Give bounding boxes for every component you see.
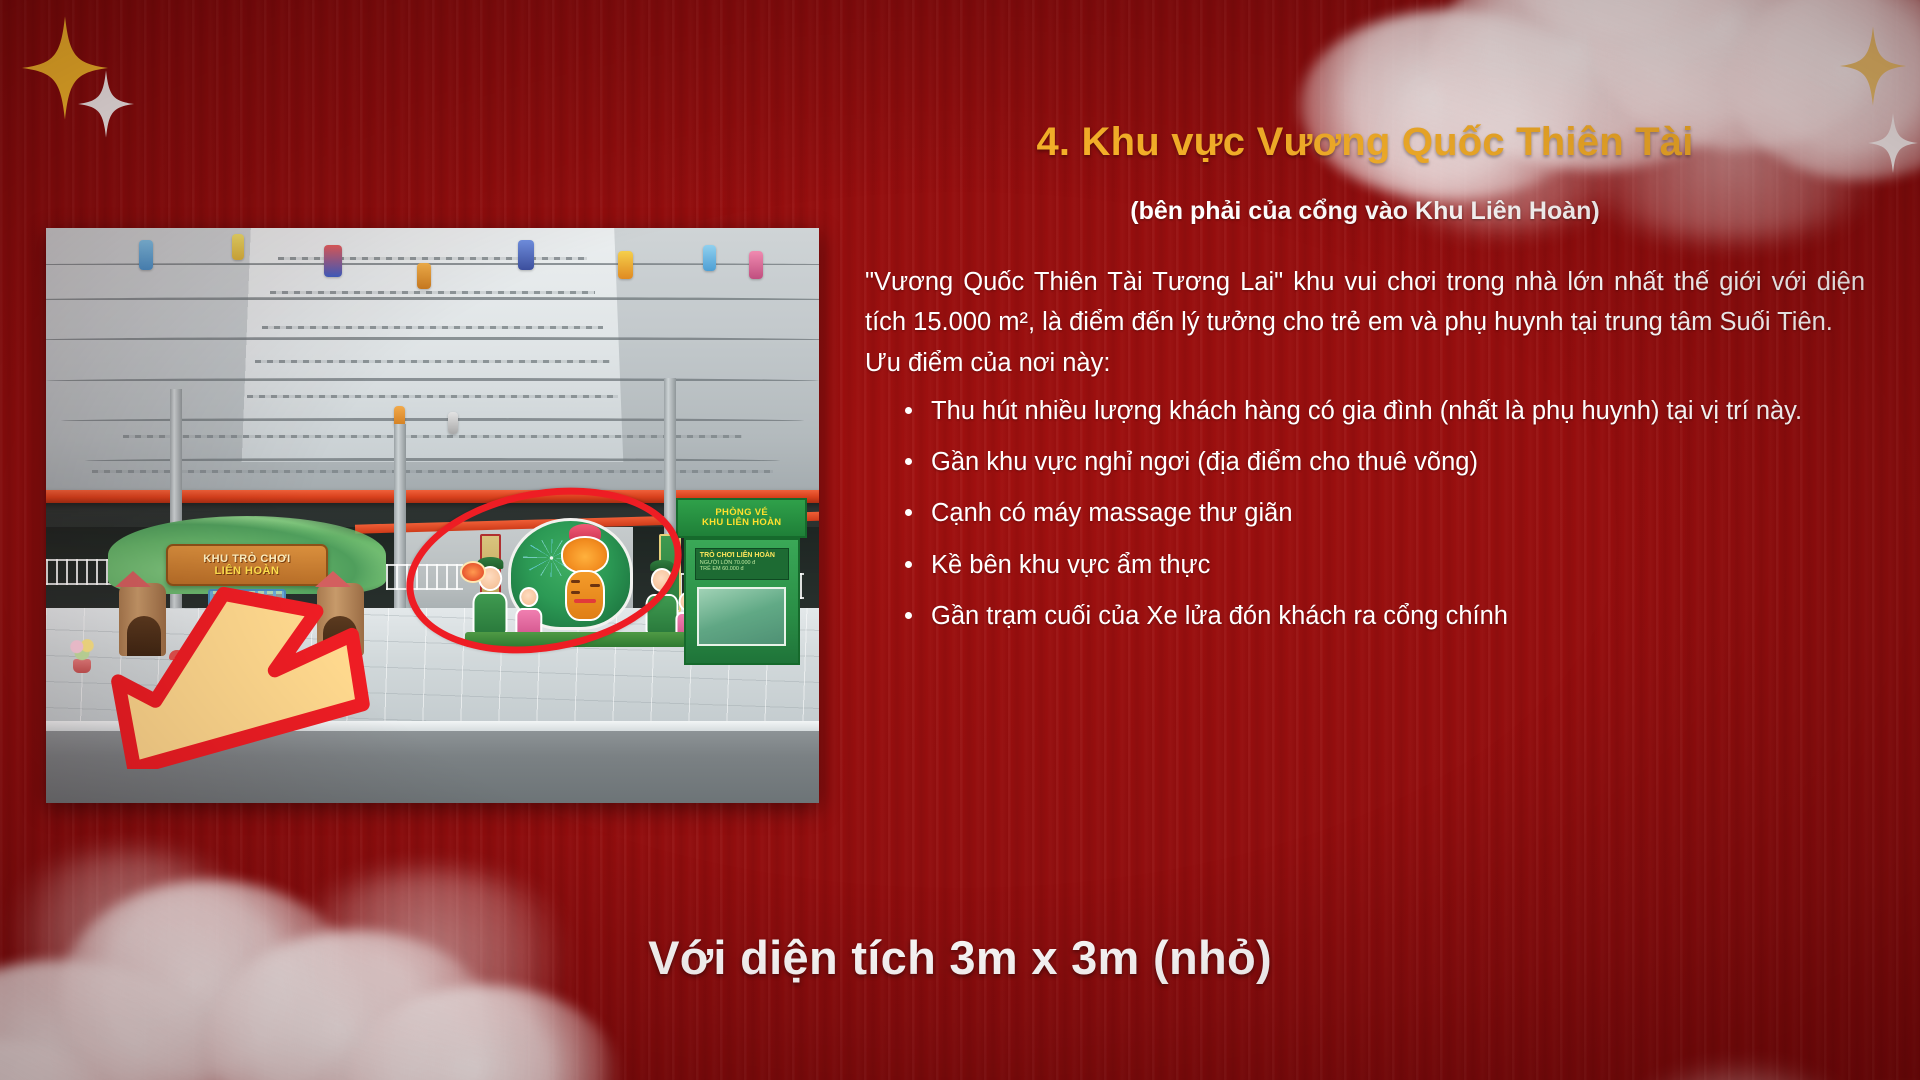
footer-headline: Với diện tích 3m x 3m (nhỏ) [0, 930, 1920, 985]
list-item: Gần trạm cuối của Xe lửa đón khách ra cổ… [931, 596, 1865, 636]
hanging-character [518, 240, 534, 270]
booth-sign-line2: KHU LIÊN HOÀN [702, 518, 781, 528]
roof-truss [270, 291, 595, 294]
advantages-list: Thu hút nhiều lượng khách hàng có gia đì… [865, 391, 1865, 636]
roof-truss [123, 435, 741, 438]
roof-truss [247, 395, 618, 398]
archway-sign-line2: LIÊN HOÀN [214, 565, 279, 577]
ticket-booth: PHÒNG VÉ KHU LIÊN HOÀN TRÒ CHƠI LIÊN HOÀ… [676, 498, 807, 665]
booth-price-board: TRÒ CHƠI LIÊN HOÀN NGƯỜI LỚN 70.000 đ TR… [695, 548, 789, 580]
roof-rib [46, 337, 819, 340]
yellow-arrow-annotation [100, 579, 378, 769]
hanging-character [618, 251, 633, 279]
slide-canvas: KHU TRÒ CHƠI LIÊN HOÀN [0, 0, 1920, 1080]
flower-pot-prop [69, 639, 95, 673]
price-board-title: TRÒ CHƠI LIÊN HOÀN [700, 552, 784, 560]
body-block: "Vương Quốc Thiên Tài Tương Lai" khu vui… [865, 262, 1865, 636]
list-item: Kề bên khu vực ẩm thực [931, 545, 1865, 585]
cloud-bottom-right [1560, 980, 1920, 1080]
roof-truss [262, 326, 602, 329]
hanging-character [703, 245, 716, 271]
roof-rib [46, 297, 819, 300]
list-item: Gần khu vực nghỉ ngơi (địa điểm cho thuê… [931, 442, 1865, 482]
sparkle-white-top-right [1868, 112, 1918, 174]
intro-paragraph: "Vương Quốc Thiên Tài Tương Lai" khu vui… [865, 262, 1865, 343]
text-column: 4. Khu vực Vương Quốc Thiên Tài (bên phả… [865, 120, 1865, 647]
location-photo: KHU TRÒ CHƠI LIÊN HOÀN [46, 228, 819, 803]
hanging-character [139, 240, 153, 270]
roof-truss [255, 360, 611, 363]
list-item: Cạnh có máy massage thư giãn [931, 493, 1865, 533]
page-title: 4. Khu vực Vương Quốc Thiên Tài [865, 120, 1865, 165]
booth-window [697, 587, 786, 646]
roof-rib [46, 378, 819, 381]
hanging-character [749, 251, 763, 279]
sparkle-gold-top-right [1840, 26, 1906, 106]
hanging-character [324, 245, 342, 277]
hanging-character [448, 412, 458, 434]
list-item: Thu hút nhiều lượng khách hàng có gia đì… [931, 391, 1865, 431]
sparkle-gold-top-left [22, 16, 108, 120]
hanging-character [232, 234, 244, 260]
page-subtitle: (bên phải của cổng vào Khu Liên Hoàn) [865, 197, 1865, 226]
booth-sign: PHÒNG VÉ KHU LIÊN HOÀN [676, 498, 807, 538]
hanging-character [417, 263, 431, 289]
photo-scene: KHU TRÒ CHƠI LIÊN HOÀN [46, 228, 819, 803]
archway-sign-line1: KHU TRÒ CHƠI [203, 553, 291, 565]
booth-body: TRÒ CHƠI LIÊN HOÀN NGƯỜI LỚN 70.000 đ TR… [684, 538, 800, 665]
advantages-label: Ưu điểm của nơi này: [865, 343, 1865, 383]
sparkle-white-top-left [78, 70, 134, 138]
price-board-child: TRẺ EM 60.000 đ [700, 566, 784, 572]
